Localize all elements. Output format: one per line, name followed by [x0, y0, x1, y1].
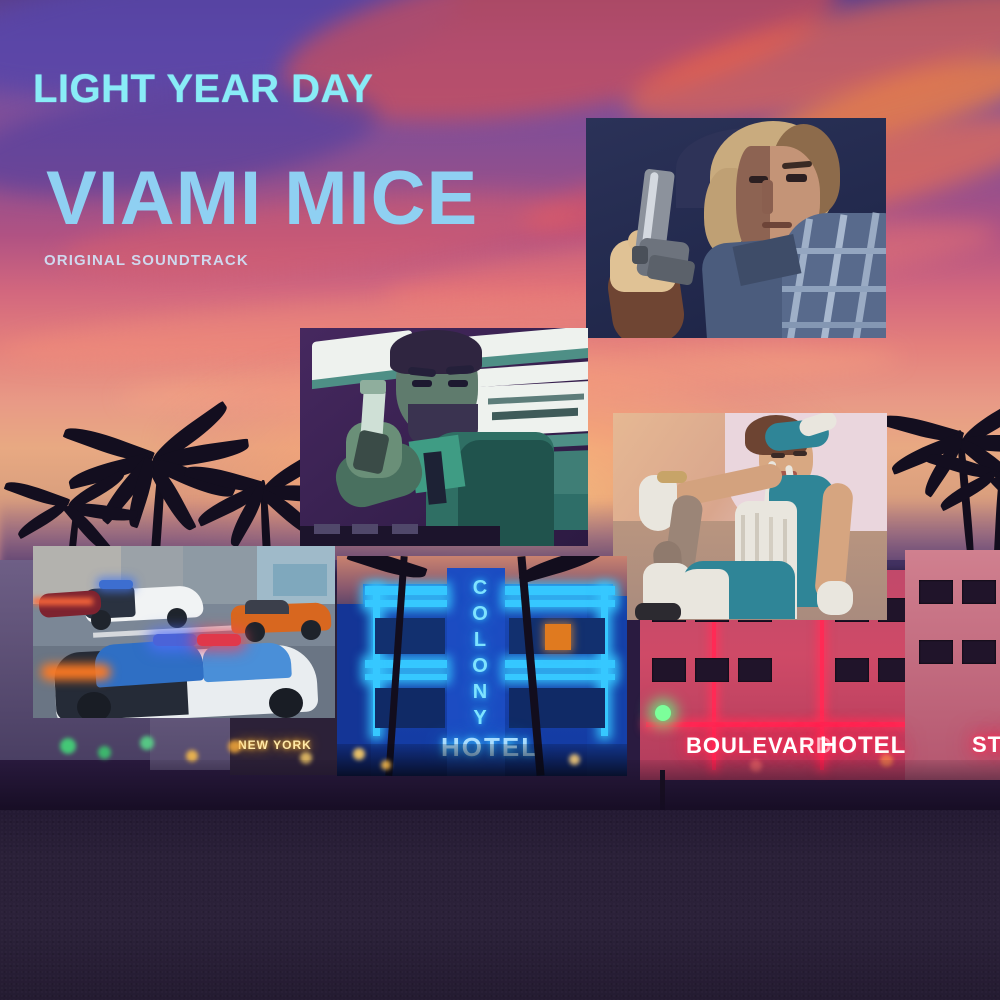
figure-glove [817, 581, 853, 615]
hero-lightbar-red [197, 634, 241, 646]
panel-5-light-bokeh [381, 760, 391, 770]
boulevard-neon-sign: BOULEVARD [686, 733, 833, 759]
figure-eye [448, 380, 468, 387]
colony-sign-letter: O [463, 604, 497, 625]
plaid-stripe [782, 248, 886, 254]
neon-band [505, 660, 615, 668]
colony-sign-letter: N [463, 682, 497, 703]
street-light-bokeh [140, 736, 154, 750]
gun-muzzle [360, 380, 386, 394]
city-glass-window [273, 564, 327, 596]
window-row [835, 658, 912, 682]
street-light-bokeh [228, 740, 241, 753]
hero-lightbar-blue [153, 634, 197, 646]
figure-eye [793, 451, 807, 456]
window [919, 640, 953, 664]
hotel-window-band [375, 688, 445, 728]
hero-rear-window [202, 642, 292, 683]
orange-car-window [245, 600, 289, 614]
album-title-top: LIGHT YEAR DAY [33, 67, 373, 112]
car-wheel [77, 692, 111, 718]
headlight-flare [41, 664, 111, 680]
figure-bracelet [657, 471, 687, 483]
colony-sign-letter: C [463, 578, 497, 599]
neon-band [505, 674, 615, 680]
album-cover: BOULEVARD HOTEL STAR NEW YORK [0, 0, 1000, 1000]
street-light-bokeh [60, 738, 76, 754]
green-street-lamp [655, 705, 671, 721]
neon-awning-line [646, 722, 946, 727]
colony-sign-letter: L [463, 630, 497, 651]
album-title-main: VIAMI MICE [46, 155, 478, 242]
panel-5-ground-shadow [337, 744, 627, 776]
figure-mouth [762, 222, 792, 228]
police-lightbar [99, 580, 133, 589]
panel-2-foreground-keys [352, 524, 378, 534]
window [738, 658, 772, 682]
motion-streak [33, 598, 93, 605]
colony-sign-letter: Y [463, 708, 497, 729]
window [962, 580, 996, 604]
foreground-grain-texture [0, 810, 1000, 1000]
window [962, 640, 996, 664]
plaid-stripe [782, 286, 886, 292]
window-row [919, 640, 996, 664]
panel-2-foreground-keys [314, 524, 340, 534]
car-wheel [245, 622, 265, 642]
boulevard-hotel-neon-word: HOTEL [820, 732, 906, 760]
window [919, 580, 953, 604]
window [695, 658, 729, 682]
car-wheel [269, 688, 303, 718]
gun-hammer [632, 246, 648, 264]
window-row [652, 658, 772, 682]
panel-man-with-gun [586, 118, 886, 338]
car-wheel [301, 620, 321, 640]
panel-seated-woman [613, 413, 887, 620]
panel-5-light-bokeh [569, 754, 580, 765]
figure-nose-shadow [762, 180, 773, 214]
marquee-left-sign: NEW YORK [238, 738, 312, 752]
starlite-neon-sign: STAR [972, 732, 1000, 758]
window [652, 658, 686, 682]
colony-sign-letter: O [463, 656, 497, 677]
figure-shoe [635, 603, 681, 620]
hotel-window-band [375, 618, 445, 654]
plaid-stripe [782, 322, 886, 328]
figure-skirt-ruffle [675, 569, 729, 619]
street-light-bokeh [98, 746, 111, 759]
panel-police-chase [33, 546, 335, 718]
album-subtitle: ORIGINAL SOUNDTRACK [44, 252, 249, 269]
window [835, 658, 869, 682]
hotel-window-band [509, 688, 605, 728]
panel-colony-hotel: C O L O N Y HOTEL [337, 556, 627, 776]
figure-eye-right [786, 174, 807, 182]
car-wheel [167, 608, 187, 628]
panel-5-light-bokeh [353, 748, 365, 760]
figure-eye [771, 453, 785, 458]
panel-green-figure [300, 328, 588, 546]
figure-eye [412, 380, 432, 387]
panel-2-foreground-keys [392, 524, 418, 534]
lit-window-orange [545, 624, 571, 650]
window-row [919, 580, 996, 604]
